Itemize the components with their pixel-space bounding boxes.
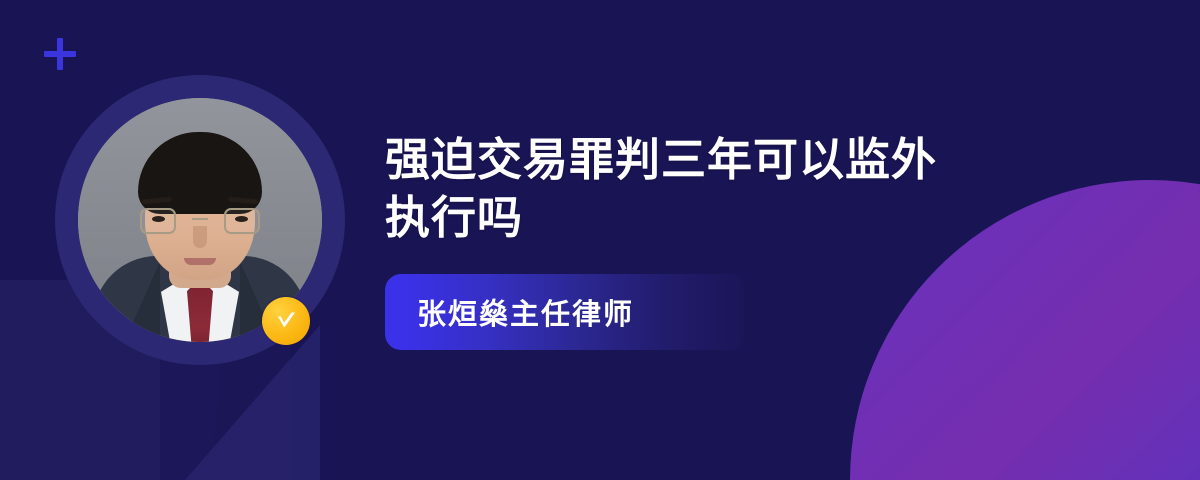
avatar [55,75,345,365]
portrait-eye-right [235,216,248,222]
page-title: 强迫交易罪判三年可以监外执行吗 [385,131,975,248]
portrait-eye-left [152,216,165,222]
presenter-name-badge[interactable]: 张烜燊主任律师 [385,274,745,350]
portrait-mouth [184,258,216,265]
verified-check-icon [262,297,310,345]
video-thumbnail-banner: 强迫交易罪判三年可以监外执行吗 张烜燊主任律师 [0,0,1200,480]
portrait-nose [193,226,207,248]
portrait-glasses-bridge [192,218,208,220]
banner-content: 强迫交易罪判三年可以监外执行吗 张烜燊主任律师 [385,0,1025,480]
plus-icon [44,38,76,70]
